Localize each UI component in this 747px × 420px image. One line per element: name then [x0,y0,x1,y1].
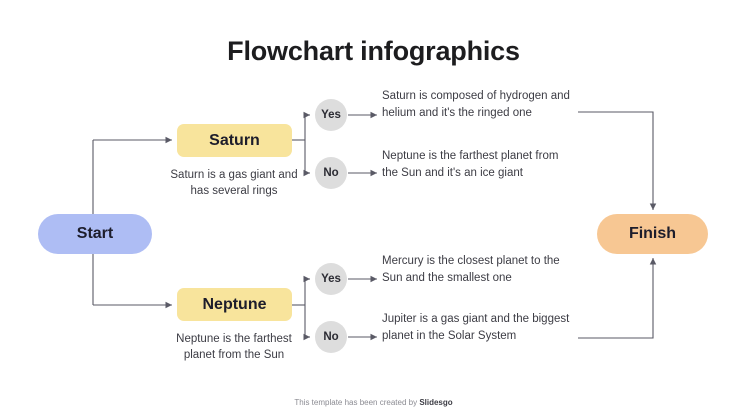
branch-saturn-no[interactable]: No [315,157,347,189]
node-start-label: Start [77,225,113,243]
footer-prefix: This template has been created by [294,398,419,407]
branch-neptune-no[interactable]: No [315,321,347,353]
node-neptune-label: Neptune [203,296,267,314]
branch-saturn-yes[interactable]: Yes [315,99,347,131]
outcome-saturn-yes: Saturn is composed of hydrogen and heliu… [382,88,572,121]
node-start[interactable]: Start [38,214,152,254]
node-saturn[interactable]: Saturn [177,124,292,157]
slide-canvas: Flowchart infographics [0,0,747,420]
branch-neptune-yes-label: Yes [321,273,341,285]
outcome-neptune-yes: Mercury is the closest planet to the Sun… [382,253,572,286]
node-neptune[interactable]: Neptune [177,288,292,321]
branch-saturn-yes-label: Yes [321,109,341,121]
node-saturn-caption: Saturn is a gas giant and has several ri… [170,167,298,199]
node-neptune-caption: Neptune is the farthest planet from the … [170,331,298,363]
node-saturn-label: Saturn [209,132,260,150]
wire-bottom-to-finish [578,258,653,338]
node-finish[interactable]: Finish [597,214,708,254]
branch-saturn-no-label: No [323,167,338,179]
footer-credit: This template has been created by Slides… [0,398,747,407]
node-finish-label: Finish [629,225,676,243]
outcome-neptune-no: Jupiter is a gas giant and the biggest p… [382,311,572,344]
page-title: Flowchart infographics [0,36,747,67]
wire-top-to-finish [578,112,653,210]
footer-brand: Slidesgo [419,398,452,407]
branch-neptune-yes[interactable]: Yes [315,263,347,295]
branch-neptune-no-label: No [323,331,338,343]
outcome-saturn-no: Neptune is the farthest planet from the … [382,148,572,181]
